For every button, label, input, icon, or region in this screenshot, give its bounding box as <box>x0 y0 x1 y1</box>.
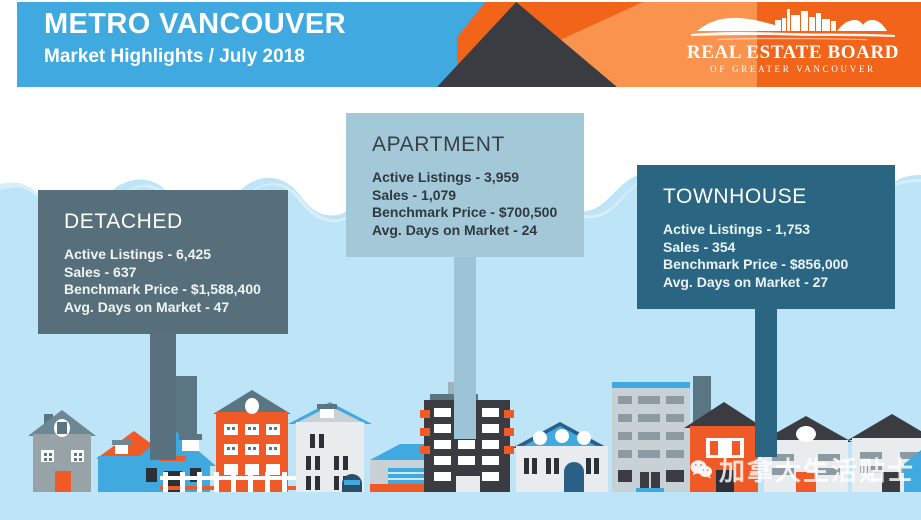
city-skyline-icon <box>687 7 899 43</box>
wechat-icon <box>690 449 713 489</box>
panel-line-sales: Sales - 1,079 <box>372 187 562 205</box>
infographic-root: METRO VANCOUVER Market Highlights / July… <box>0 0 921 520</box>
sign-post-townhouse <box>755 309 777 457</box>
panel-line-avg-days: Avg. Days on Market - 24 <box>372 222 562 240</box>
panel-title-apartment: APARTMENT <box>372 131 562 158</box>
header-banner: METRO VANCOUVER Market Highlights / July… <box>17 2 921 87</box>
page-title: METRO VANCOUVER <box>44 5 346 43</box>
logo-subtitle: OF GREATER VANCOUVER <box>677 62 909 76</box>
panel-line-benchmark-price: Benchmark Price - $1,588,400 <box>64 281 266 299</box>
sign-post-detached <box>150 334 176 460</box>
rebgv-logo: REAL ESTATE BOARD OF GREATER VANCOUVER <box>677 7 909 81</box>
panel-title-townhouse: TOWNHOUSE <box>663 183 873 210</box>
logo-name: REAL ESTATE BOARD <box>677 43 909 62</box>
panel-detached: DETACHED Active Listings - 6,425 Sales -… <box>38 190 288 334</box>
panel-line-sales: Sales - 354 <box>663 239 873 257</box>
panel-line-avg-days: Avg. Days on Market - 27 <box>663 274 873 292</box>
watermark-text: 加拿大生活贴士 <box>719 451 915 488</box>
panel-apartment: APARTMENT Active Listings - 3,959 Sales … <box>346 113 584 257</box>
sign-townhouse[interactable]: TOWNHOUSE Active Listings - 1,753 Sales … <box>637 165 895 309</box>
panel-line-avg-days: Avg. Days on Market - 47 <box>64 299 266 317</box>
sign-apartment[interactable]: APARTMENT Active Listings - 3,959 Sales … <box>346 113 584 257</box>
header-title-block: METRO VANCOUVER Market Highlights / July… <box>44 5 346 70</box>
panel-title-detached: DETACHED <box>64 208 266 235</box>
panel-line-active-listings: Active Listings - 6,425 <box>64 246 266 264</box>
scene: DETACHED Active Listings - 6,425 Sales -… <box>0 87 921 520</box>
panel-line-sales: Sales - 637 <box>64 264 266 282</box>
panel-townhouse: TOWNHOUSE Active Listings - 1,753 Sales … <box>637 165 895 309</box>
panel-line-active-listings: Active Listings - 1,753 <box>663 221 873 239</box>
page-subtitle: Market Highlights / July 2018 <box>44 44 346 70</box>
panel-line-benchmark-price: Benchmark Price - $700,500 <box>372 204 562 222</box>
watermark: 加拿大生活贴士 <box>690 445 915 493</box>
panel-line-benchmark-price: Benchmark Price - $856,000 <box>663 256 873 274</box>
sign-detached[interactable]: DETACHED Active Listings - 6,425 Sales -… <box>38 190 288 334</box>
panel-line-active-listings: Active Listings - 3,959 <box>372 169 562 187</box>
sign-post-apartment <box>454 257 476 439</box>
